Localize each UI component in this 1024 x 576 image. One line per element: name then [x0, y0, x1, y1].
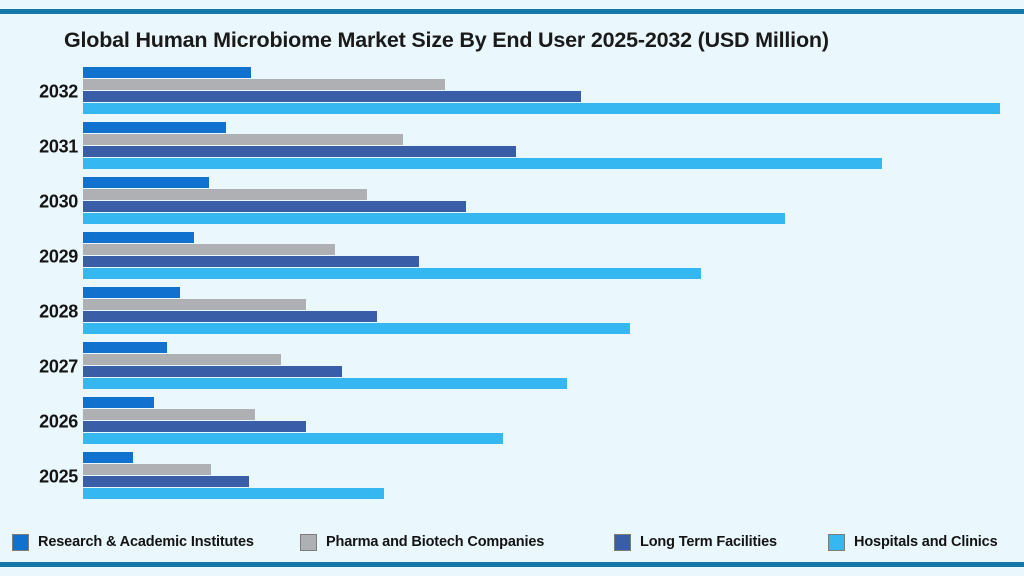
- bottom-rule: [0, 562, 1024, 567]
- category-label: 2030: [20, 191, 78, 212]
- bar-group: 2027: [0, 339, 1024, 394]
- category-label: 2032: [20, 81, 78, 102]
- category-label: 2029: [20, 246, 78, 267]
- legend-swatch-icon: [12, 534, 29, 551]
- bar: [83, 378, 567, 389]
- plot-area: 20322031203020292028202720262025: [0, 64, 1024, 519]
- category-label: 2028: [20, 301, 78, 322]
- legend-label: Pharma and Biotech Companies: [326, 534, 544, 550]
- bar-group: 2025: [0, 449, 1024, 504]
- category-label: 2027: [20, 356, 78, 377]
- bar: [83, 268, 701, 279]
- legend-swatch-icon: [828, 534, 845, 551]
- legend-item[interactable]: Hospitals and Clinics: [828, 528, 998, 556]
- top-rule: [0, 9, 1024, 14]
- chart-figure: Global Human Microbiome Market Size By E…: [0, 0, 1024, 576]
- bar: [83, 244, 335, 255]
- bar: [83, 189, 367, 200]
- bar: [83, 213, 785, 224]
- bar: [83, 299, 306, 310]
- legend-swatch-icon: [614, 534, 631, 551]
- bar: [83, 287, 180, 298]
- legend-label: Long Term Facilities: [640, 534, 777, 550]
- category-label: 2031: [20, 136, 78, 157]
- category-label: 2026: [20, 411, 78, 432]
- bar: [83, 323, 630, 334]
- bar: [83, 464, 211, 475]
- bar: [83, 488, 384, 499]
- bar-group: 2030: [0, 174, 1024, 229]
- bar: [83, 146, 516, 157]
- chart-title: Global Human Microbiome Market Size By E…: [64, 28, 829, 53]
- bar: [83, 311, 377, 322]
- legend-item[interactable]: Long Term Facilities: [614, 528, 777, 556]
- bar: [83, 452, 133, 463]
- bar: [83, 342, 167, 353]
- bar: [83, 476, 249, 487]
- bar: [83, 366, 342, 377]
- bar-group: 2032: [0, 64, 1024, 119]
- bar-group: 2029: [0, 229, 1024, 284]
- bar: [83, 409, 255, 420]
- bar: [83, 177, 209, 188]
- category-label: 2025: [20, 466, 78, 487]
- bar: [83, 433, 503, 444]
- legend-label: Hospitals and Clinics: [854, 534, 998, 550]
- legend-label: Research & Academic Institutes: [38, 534, 254, 550]
- bar-group: 2031: [0, 119, 1024, 174]
- bar: [83, 134, 403, 145]
- bar: [83, 201, 466, 212]
- bar: [83, 397, 154, 408]
- bar: [83, 354, 281, 365]
- bar: [83, 232, 194, 243]
- bar: [83, 91, 581, 102]
- bar-group: 2028: [0, 284, 1024, 339]
- bar: [83, 79, 445, 90]
- legend-item[interactable]: Research & Academic Institutes: [12, 528, 254, 556]
- bar: [83, 158, 882, 169]
- legend-swatch-icon: [300, 534, 317, 551]
- chart-legend: Research & Academic InstitutesPharma and…: [0, 528, 1024, 556]
- bar: [83, 256, 419, 267]
- bar: [83, 421, 306, 432]
- bar: [83, 67, 251, 78]
- bar-group: 2026: [0, 394, 1024, 449]
- bar: [83, 103, 1000, 114]
- legend-item[interactable]: Pharma and Biotech Companies: [300, 528, 544, 556]
- bar: [83, 122, 226, 133]
